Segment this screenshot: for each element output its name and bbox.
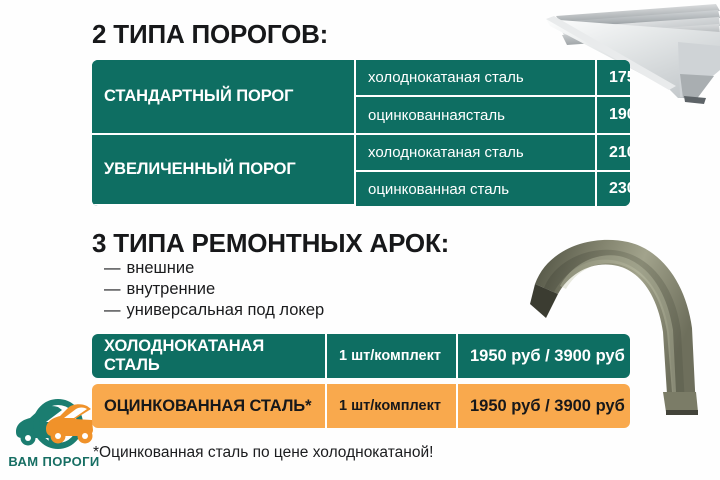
page-heading-arches: 3 ТИПА РЕМОНТНЫХ АРОК: (92, 228, 449, 259)
sill-material: холоднокатаная сталь (356, 60, 597, 97)
table-row: УВЕЛИЧЕННЫЙ ПОРОГ холоднокатаная сталь 2… (92, 135, 630, 172)
brand-name: ВАМ ПОРОГИ (6, 454, 102, 469)
table-row: СТАНДАРТНЫЙ ПОРОГ холоднокатаная сталь 1… (92, 60, 630, 97)
sill-price: 2100 руб (597, 135, 630, 172)
arch-type-label: внешние (127, 259, 195, 277)
arch-quantity: 1 шт/комплект (327, 384, 458, 428)
dash-bullet-icon: — (104, 301, 121, 319)
sills-price-table: СТАНДАРТНЫЙ ПОРОГ холоднокатаная сталь 1… (92, 60, 630, 206)
table-row: ОЦИНКОВАННАЯ СТАЛЬ* 1 шт/комплект 1950 р… (92, 384, 630, 428)
brand-logo: ВАМ ПОРОГИ (6, 396, 102, 474)
svg-text:Avito: Avito (646, 446, 698, 469)
sill-price: 1750 руб (597, 60, 630, 97)
arch-type-label: внутренние (127, 280, 216, 298)
table-row: ХОЛОДНОКАТАНАЯ СТАЛЬ 1 шт/комплект 1950 … (92, 334, 630, 378)
car-in-ring-icon (6, 396, 102, 454)
sill-price: 1900 руб (597, 97, 630, 134)
sill-price: 2300 руб (597, 172, 630, 206)
sill-material: холоднокатаная сталь (356, 135, 597, 172)
list-item: —универсальная под локер (104, 300, 324, 321)
arch-type-label: универсальная под локер (127, 301, 325, 319)
footnote-text: *Оцинкованная сталь по цене холоднокатан… (93, 444, 433, 462)
arches-price-table: ХОЛОДНОКАТАНАЯ СТАЛЬ 1 шт/комплект 1950 … (92, 334, 630, 428)
arch-types-list: —внешние —внутренние —универсальная под … (104, 258, 324, 321)
dash-bullet-icon: — (104, 280, 121, 298)
arch-price: 1950 руб / 3900 руб (458, 384, 630, 428)
avito-logo-icon: Avito (618, 440, 714, 470)
arch-quantity: 1 шт/комплект (327, 334, 458, 378)
list-item: —внутренние (104, 279, 324, 300)
promo-image-canvas: 2 ТИПА ПОРОГОВ: СТАНДАРТНЫЙ ПОРОГ холодн… (0, 0, 720, 480)
sill-category-enlarged: УВЕЛИЧЕННЫЙ ПОРОГ (92, 135, 356, 206)
sill-category-standard: СТАНДАРТНЫЙ ПОРОГ (92, 60, 356, 135)
dash-bullet-icon: — (104, 259, 121, 277)
page-heading-sills: 2 ТИПА ПОРОГОВ: (92, 19, 328, 50)
sill-material: оцинкованнаясталь (356, 97, 597, 134)
arch-material: ОЦИНКОВАННАЯ СТАЛЬ* (92, 384, 327, 428)
list-item: —внешние (104, 258, 324, 279)
avito-watermark: Avito (618, 440, 714, 470)
arch-material: ХОЛОДНОКАТАНАЯ СТАЛЬ (92, 334, 327, 378)
sill-material: оцинкованная сталь (356, 172, 597, 206)
arch-price: 1950 руб / 3900 руб (458, 334, 630, 378)
